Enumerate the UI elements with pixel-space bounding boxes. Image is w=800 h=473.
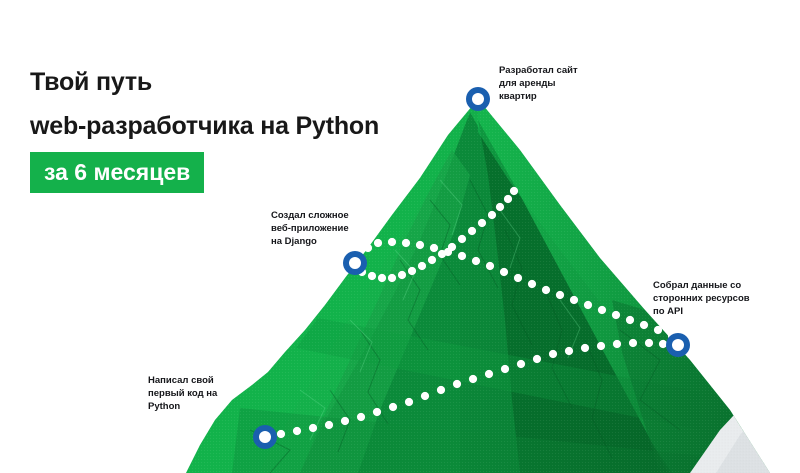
poster-canvas: Твой путь web-разработчика на Python за … (0, 0, 800, 473)
route-dot (374, 239, 382, 247)
route-dot (659, 340, 667, 348)
route-dot (408, 267, 416, 275)
milestone-label-line: по API (653, 305, 750, 318)
marker-center (472, 93, 484, 105)
route-dot (398, 271, 406, 279)
route-dot (388, 238, 396, 246)
route-dot (584, 301, 592, 309)
route-dot (388, 274, 396, 282)
milestone-label-line: на Django (271, 235, 349, 248)
route-dot (325, 421, 333, 429)
route-dot (640, 321, 648, 329)
route-dot (500, 268, 508, 276)
route-dot (654, 326, 662, 334)
route-dot (453, 380, 461, 388)
milestone-peak-marker-icon[interactable] (466, 87, 490, 111)
milestone-label-line: веб-приложение (271, 222, 349, 235)
marker-center (259, 431, 271, 443)
route-dot (277, 430, 285, 438)
route-dot (458, 252, 466, 260)
headline-block: Твой путь web-разработчика на Python за … (30, 60, 430, 193)
milestone-label-line: для аренды (499, 77, 578, 90)
route-dot (309, 424, 317, 432)
milestone-label-line: Создал сложное (271, 209, 349, 222)
route-dot (570, 296, 578, 304)
milestone-label-line: сторонних ресурсов (653, 292, 750, 305)
route-dot (488, 211, 496, 219)
route-dot (598, 306, 606, 314)
route-dot (373, 408, 381, 416)
milestone-label-line: Разработал сайт (499, 64, 578, 77)
milestone-label-django: Создал сложное веб-приложение на Django (271, 209, 349, 249)
route-dot (468, 227, 476, 235)
route-dot (581, 344, 589, 352)
route-dot (629, 339, 637, 347)
route-dot (486, 262, 494, 270)
route-dot (612, 311, 620, 319)
route-dot (430, 244, 438, 252)
milestone-label-line: Собрал данные со (653, 279, 750, 292)
route-dot (597, 342, 605, 350)
route-dot (485, 370, 493, 378)
milestone-api-marker-icon[interactable] (666, 333, 690, 357)
route-dot (405, 398, 413, 406)
marker-center (672, 339, 684, 351)
route-dot (418, 262, 426, 270)
route-dot (448, 243, 456, 251)
route-dot (517, 360, 525, 368)
milestone-label-first-code: Написал свой первый код на Python (148, 374, 217, 414)
route-dot (416, 241, 424, 249)
milestone-label-line: Написал свой (148, 374, 217, 387)
milestone-first-code-marker-icon[interactable] (253, 425, 277, 449)
milestone-label-peak: Разработал сайт для аренды квартир (499, 64, 578, 104)
route-dot (438, 250, 446, 258)
route-dot (613, 340, 621, 348)
route-dot (364, 244, 372, 252)
milestone-label-line: первый код на (148, 387, 217, 400)
milestone-label-line: Python (148, 400, 217, 413)
route-dot (510, 187, 518, 195)
route-dot (496, 203, 504, 211)
route-dot (472, 257, 480, 265)
route-dot (357, 413, 365, 421)
headline-line-2: web-разработчика на Python (30, 104, 430, 148)
route-dot (389, 403, 397, 411)
milestone-django-marker-icon[interactable] (343, 251, 367, 275)
route-dot (556, 291, 564, 299)
route-dot (293, 427, 301, 435)
route-dot (533, 355, 541, 363)
route-dot (368, 272, 376, 280)
route-dot (437, 386, 445, 394)
route-dot (458, 235, 466, 243)
route-dot (626, 316, 634, 324)
milestone-label-line: квартир (499, 90, 578, 103)
route-dot (501, 365, 509, 373)
milestone-label-api: Собрал данные со сторонних ресурсов по A… (653, 279, 750, 319)
route-dot (341, 417, 349, 425)
route-dot (528, 280, 536, 288)
route-dot (504, 195, 512, 203)
route-dot (542, 286, 550, 294)
route-dot (421, 392, 429, 400)
route-dot (549, 350, 557, 358)
route-dot (565, 347, 573, 355)
route-dot (645, 339, 653, 347)
route-dot (514, 274, 522, 282)
headline-line-1: Твой путь (30, 60, 430, 104)
route-dot (402, 239, 410, 247)
marker-center (349, 257, 361, 269)
route-dot (469, 375, 477, 383)
route-dot (478, 219, 486, 227)
route-dot (378, 274, 386, 282)
duration-badge: за 6 месяцев (30, 152, 204, 193)
route-dot (428, 256, 436, 264)
